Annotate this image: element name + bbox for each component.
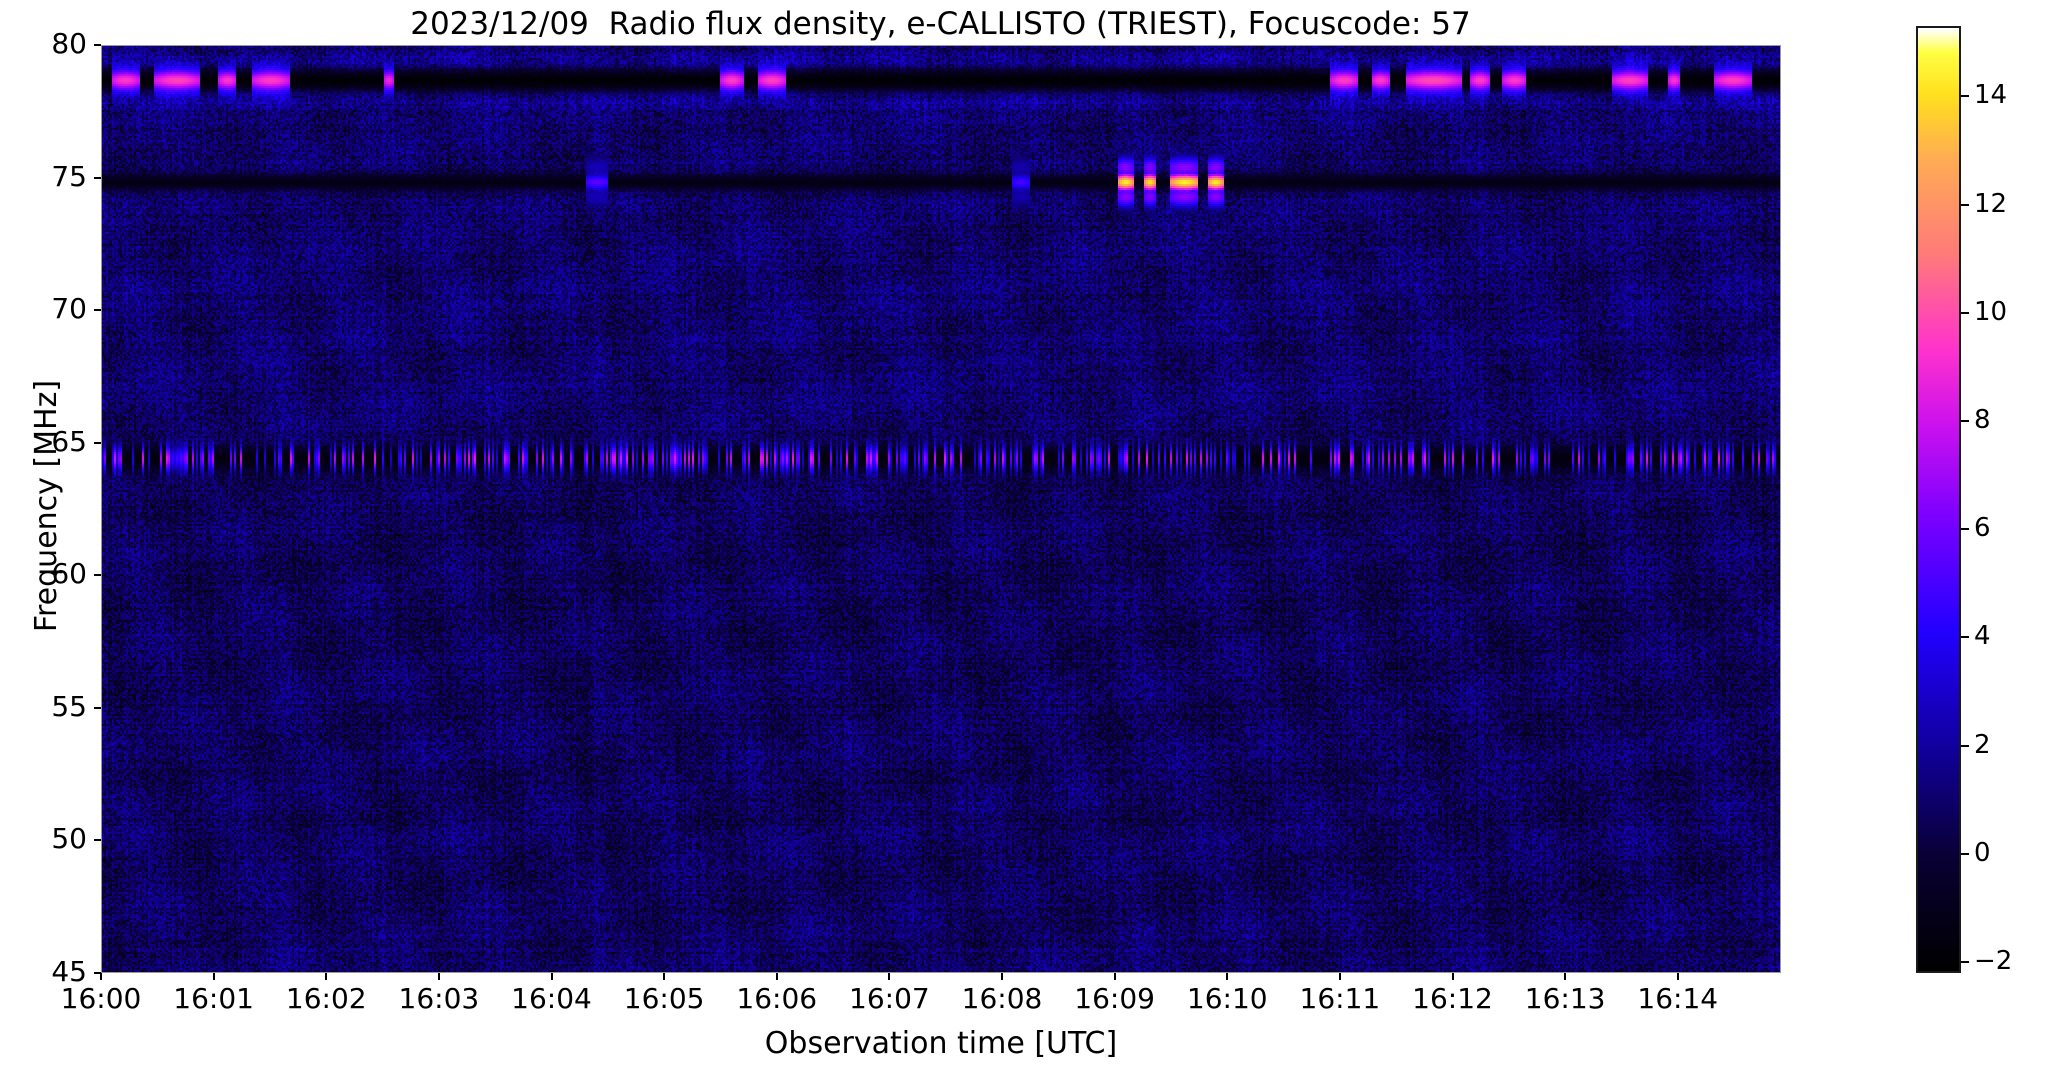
- colorbar-gradient: [1918, 28, 1959, 971]
- y-tick-mark: [94, 707, 101, 709]
- colorbar-tick-mark: [1961, 420, 1969, 422]
- colorbar-tick-mark: [1961, 312, 1969, 314]
- colorbar-tick-mark: [1961, 95, 1969, 97]
- y-tick-mark: [94, 177, 101, 179]
- y-tick-mark: [94, 44, 101, 46]
- x-axis-label: Observation time [UTC]: [101, 1026, 1781, 1062]
- x-tick-mark: [1564, 973, 1566, 980]
- colorbar-tick-label: 10: [1974, 297, 2007, 327]
- y-tick-mark: [94, 839, 101, 841]
- x-tick-mark: [1339, 973, 1341, 980]
- y-axis: 4550556065707580 Frequency [MHz]: [0, 45, 101, 973]
- x-tick-mark: [1001, 973, 1003, 980]
- x-tick-mark: [438, 973, 440, 980]
- colorbar-tick-label: 2: [1974, 730, 1991, 760]
- x-tick-mark: [888, 973, 890, 980]
- x-tick-mark: [1452, 973, 1454, 980]
- colorbar-tick-label: 4: [1974, 621, 1991, 651]
- y-axis-label: Frequency [MHz]: [30, 166, 64, 846]
- colorbar-tick-mark: [1961, 853, 1969, 855]
- x-tick-mark: [1114, 973, 1116, 980]
- x-tick-label: 16:14: [1598, 982, 1758, 1015]
- colorbar-tick-mark: [1961, 204, 1969, 206]
- y-tick-mark: [94, 574, 101, 576]
- spectrogram-image[interactable]: [102, 46, 1780, 972]
- x-tick-mark: [1226, 973, 1228, 980]
- page-title: 2023/12/09 Radio flux density, e-CALLIST…: [101, 6, 1780, 42]
- x-tick-mark: [325, 973, 327, 980]
- y-tick-label: 80: [51, 28, 87, 60]
- colorbar-tick-mark: [1961, 961, 1969, 963]
- colorbar-tick-label: 8: [1974, 405, 1991, 435]
- x-tick-mark: [551, 973, 553, 980]
- colorbar-tick-label: 0: [1974, 838, 1991, 868]
- y-tick-mark: [94, 309, 101, 311]
- colorbar-tick-mark: [1961, 528, 1969, 530]
- colorbar-tick-label: 12: [1974, 189, 2007, 219]
- x-tick-mark: [776, 973, 778, 980]
- x-tick-mark: [100, 973, 102, 980]
- x-tick-mark: [663, 973, 665, 980]
- colorbar[interactable]: [1916, 26, 1961, 973]
- x-tick-mark: [213, 973, 215, 980]
- colorbar-tick-label: 6: [1974, 513, 1991, 543]
- colorbar-tick-axis: −202468101214: [1961, 26, 2047, 973]
- colorbar-tick-mark: [1961, 745, 1969, 747]
- y-tick-mark: [94, 442, 101, 444]
- x-axis: 16:0016:0116:0216:0316:0416:0516:0616:07…: [101, 973, 1781, 1067]
- colorbar-tick-label: −2: [1974, 946, 2012, 976]
- colorbar-tick-mark: [1961, 636, 1969, 638]
- colorbar-tick-label: 14: [1974, 80, 2007, 110]
- x-tick-mark: [1677, 973, 1679, 980]
- spectrogram-axes[interactable]: [101, 45, 1781, 973]
